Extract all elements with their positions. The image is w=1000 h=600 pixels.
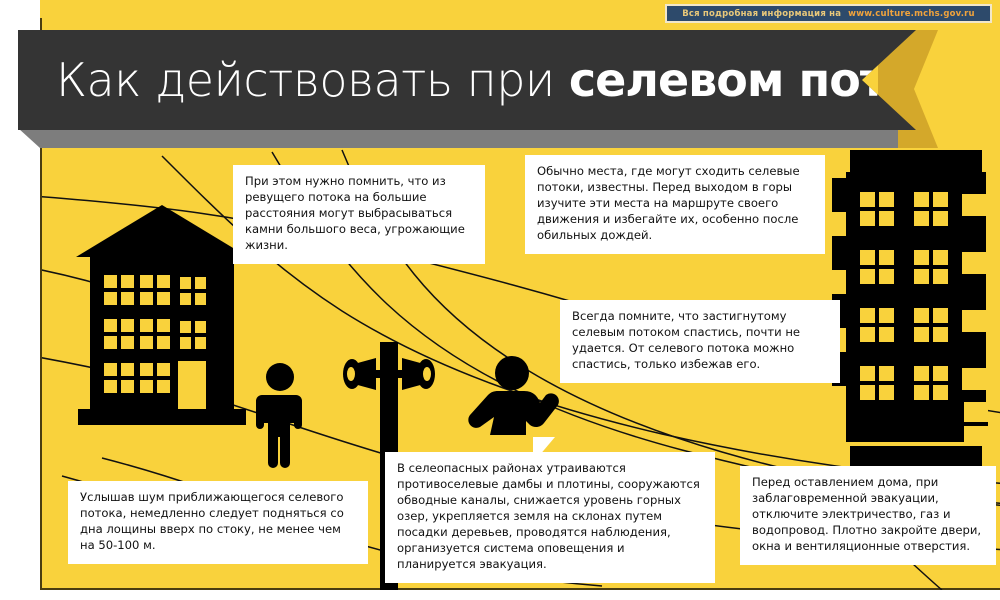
callout-text: В селеопасных районах утраиваются против…: [397, 461, 703, 573]
swept-person-icon: [460, 351, 570, 436]
callout-text: Перед оставлением дома, при заблаговреме…: [752, 475, 984, 555]
callout-top-left: При этом нужно помнить, что из ревущего …: [233, 165, 485, 264]
banner-url-link[interactable]: www.culture.mchs.gov.ru: [848, 9, 975, 19]
callout-text: Обычно места, где могут сходить селевые …: [537, 164, 813, 244]
callout-top-right: Обычно места, где могут сходить селевые …: [525, 155, 825, 254]
standing-person-icon: [250, 361, 310, 471]
callout-bottom-center: В селеопасных районах утраиваются против…: [385, 452, 715, 583]
callout-bottom-left: Услышав шум приближающегося селевого пот…: [68, 481, 368, 564]
callout-text: Услышав шум приближающегося селевого пот…: [80, 490, 356, 554]
banner-prefix-label: Вся подробная информация на: [682, 9, 841, 19]
apartment-building-silhouette-icon: [832, 146, 1000, 476]
callout-bottom-right: Перед оставлением дома, при заблаговреме…: [740, 466, 996, 565]
ribbon-drop-shadow: [18, 128, 898, 148]
infographic-canvas: Как действовать при селевом потоке Вся п…: [0, 0, 1000, 600]
title-ribbon: Как действовать при селевом потоке: [18, 30, 916, 130]
house-silhouette-icon: [72, 201, 252, 431]
source-url-banner[interactable]: Вся подробная информация на www.culture.…: [665, 4, 992, 23]
callout-middle-right: Всегда помните, что застигнутому селевым…: [560, 300, 840, 383]
title-light: Как действовать при: [56, 53, 569, 107]
callout-text: При этом нужно помнить, что из ревущего …: [245, 174, 473, 254]
page-title: Как действовать при селевом потоке: [56, 57, 977, 103]
callout-text: Всегда помните, что застигнутому селевым…: [572, 309, 828, 373]
